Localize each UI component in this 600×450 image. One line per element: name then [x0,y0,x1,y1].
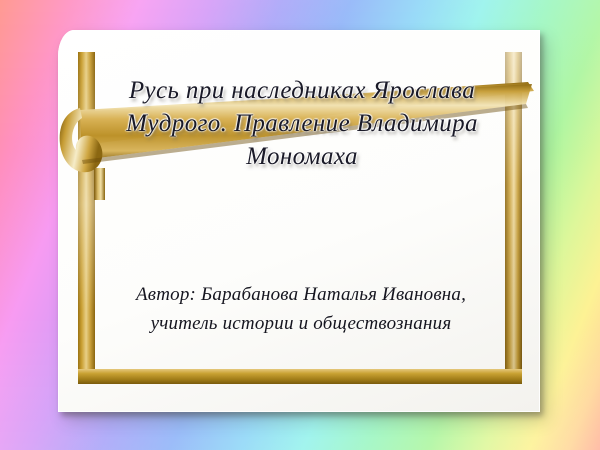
slide-text-layer: Русь при наследниках Ярослава Мудрого. П… [58,30,540,412]
gold-curled-ribbon-banner [58,82,540,200]
slide-subtitle: Автор: Барабанова Наталья Ивановна, учит… [98,280,504,339]
gold-picture-frame [78,52,522,384]
frame-bar-left [78,52,95,384]
title-line-1: Русь при наследниках Ярослава [74,74,530,107]
title-line-2: Мудрого. Правление Владимира [74,107,530,140]
slide-title: Русь при наследниках Ярослава Мудрого. П… [74,74,530,173]
presentation-slide: Русь при наследниках Ярослава Мудрого. П… [0,0,600,450]
ribbon-band-upper [80,82,534,145]
frame-bar-bottom [78,369,522,384]
title-line-3: Мономаха [74,140,530,173]
frame-bar-right [505,52,522,384]
ribbon-left-curl [60,108,103,172]
subtitle-line-1: Автор: Барабанова Наталья Ивановна, [98,280,504,309]
ribbon-band-highlight [80,91,534,152]
white-paper-card: Русь при наследниках Ярослава Мудрого. П… [58,30,540,412]
subtitle-line-2: учитель истории и обществознания [98,309,504,338]
ribbon-band-main [80,84,532,160]
ribbon-band-shadow-edge [82,104,528,164]
ribbon-stem [94,168,105,200]
